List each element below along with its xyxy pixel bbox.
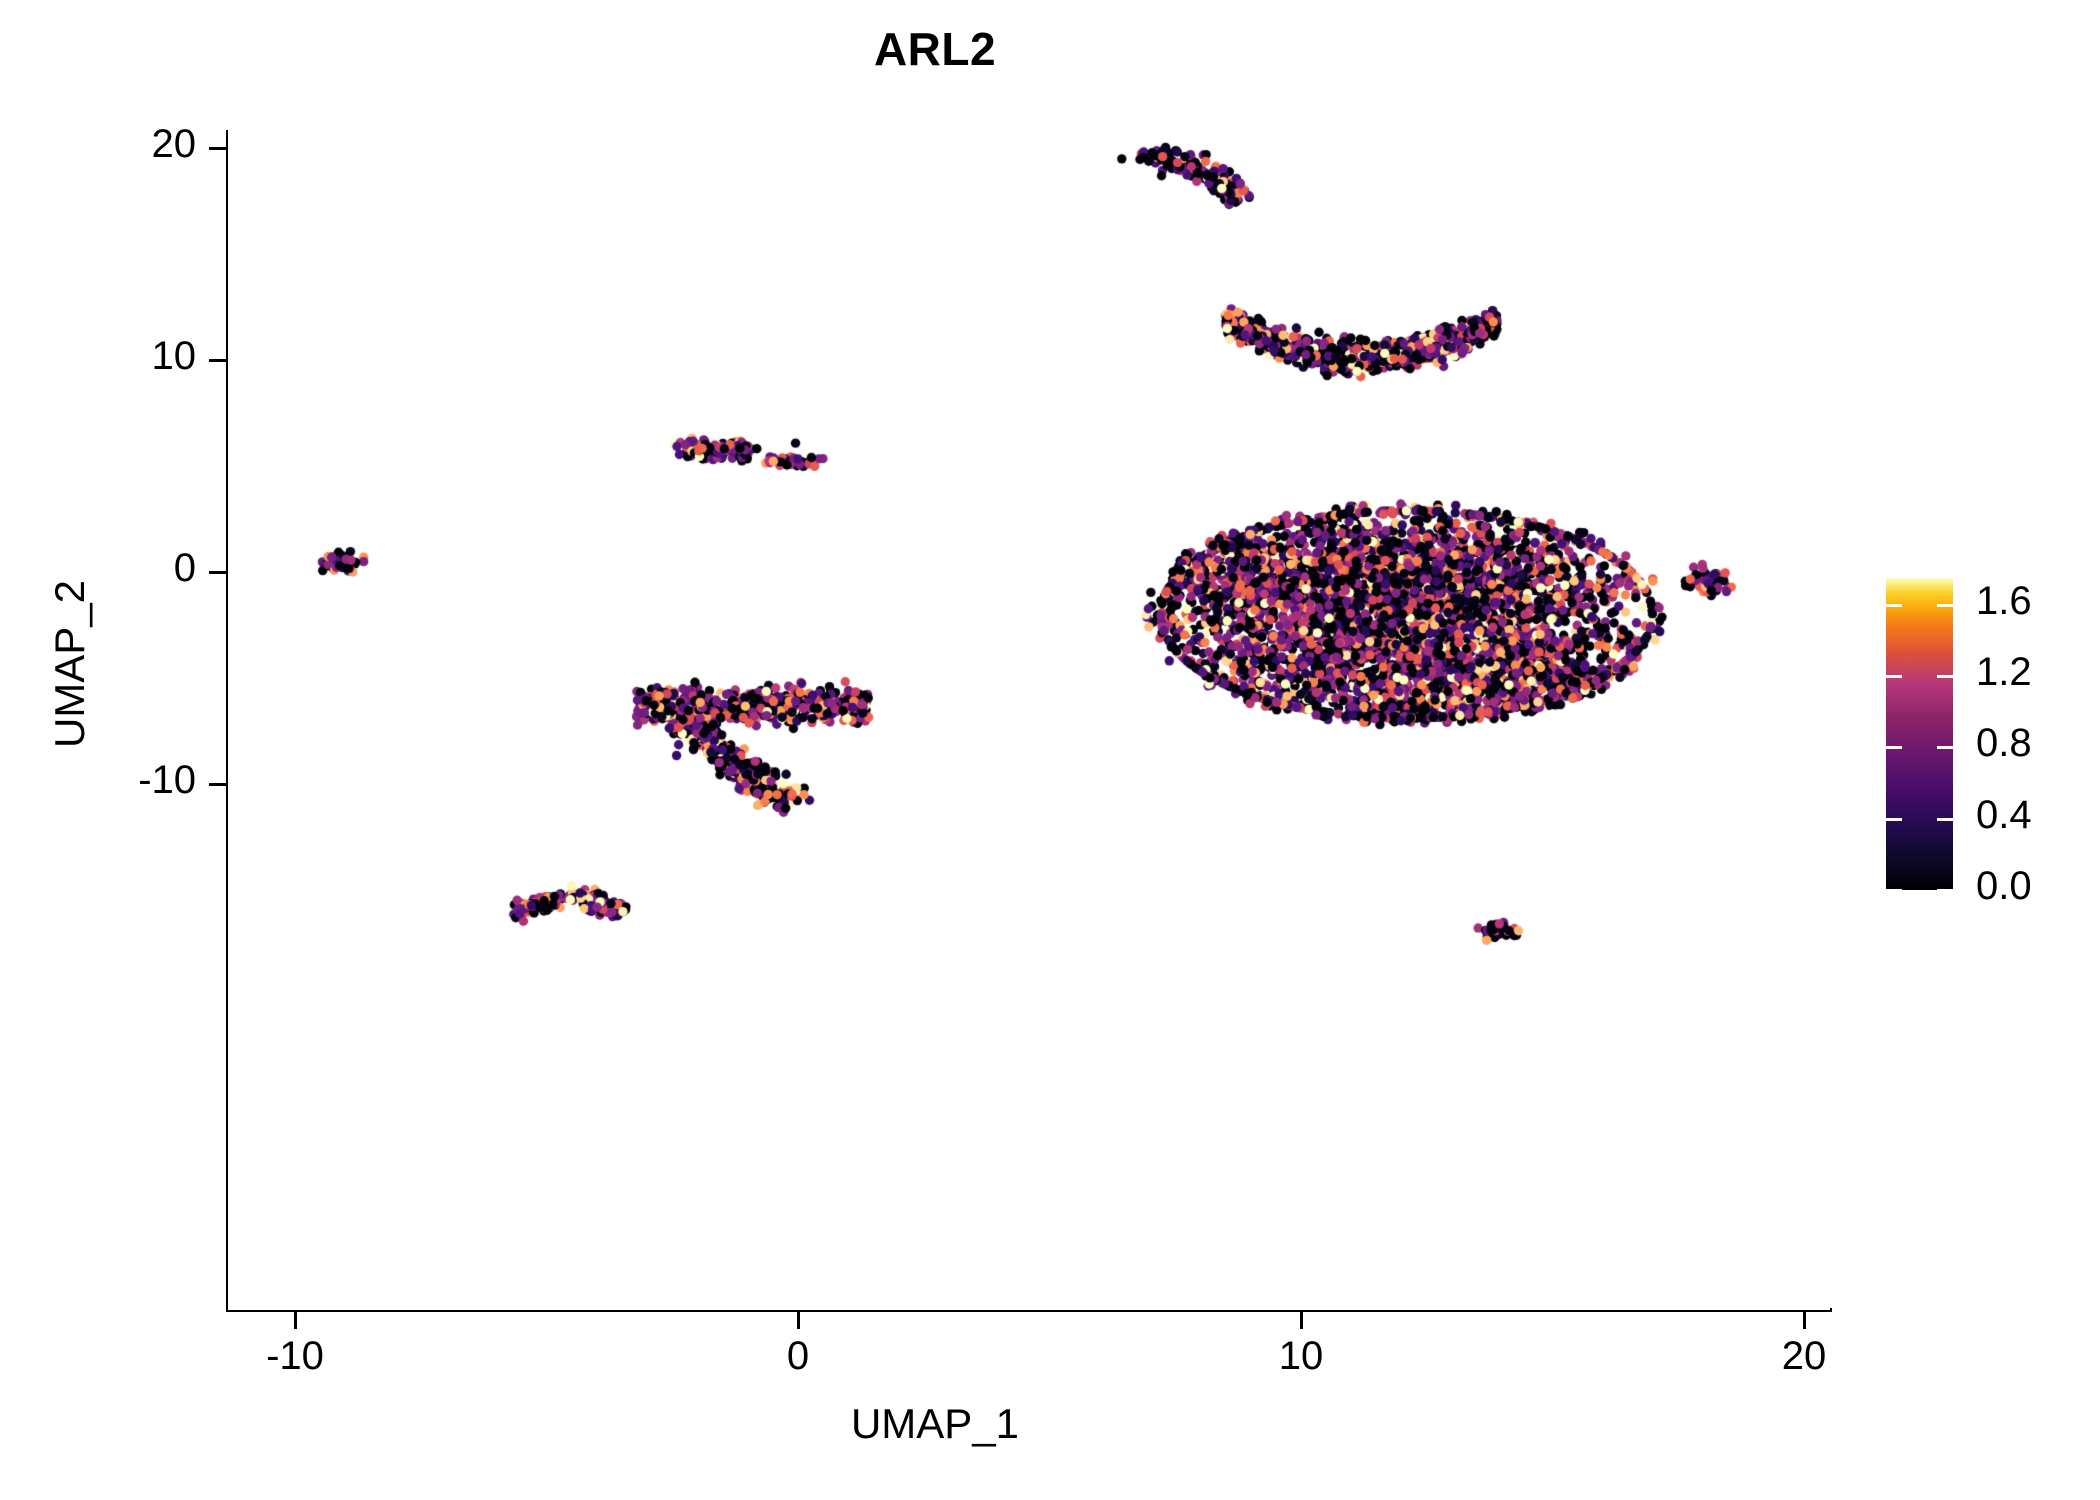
colorbar-tick-label: 1.2 [1976, 650, 2032, 695]
y-tick-label: -10 [0, 758, 196, 803]
colorbar-tick-mark [1886, 818, 1902, 821]
y-tick-mark [209, 783, 226, 786]
colorbar-tick-mark [1886, 746, 1902, 749]
colorbar-tick-label: 1.6 [1976, 579, 2032, 624]
y-axis-label: UMAP_2 [46, 314, 94, 1014]
colorbar-tick-mark [1937, 675, 1953, 678]
colorbar-tick-mark [1937, 889, 1953, 892]
colorbar-tick-mark [1886, 675, 1902, 678]
colorbar-tick-mark [1886, 889, 1902, 892]
x-tick-label: 10 [1201, 1334, 1401, 1379]
x-tick-mark [1803, 1312, 1806, 1329]
x-tick-label: -10 [195, 1334, 395, 1379]
y-tick-mark [209, 147, 226, 150]
x-tick-mark [1300, 1312, 1303, 1329]
x-tick-label: 0 [698, 1334, 898, 1379]
chart-root: ARL2 -1001020 -1001020 UMAP_1 UMAP_2 0.0… [0, 0, 2100, 1500]
colorbar-gradient [1886, 578, 1953, 890]
colorbar-tick-label: 0.4 [1976, 793, 2032, 838]
colorbar-tick-label: 0.0 [1976, 864, 2032, 909]
y-tick-label: 0 [0, 546, 196, 591]
y-tick-label: 20 [0, 122, 196, 167]
x-axis-label: UMAP_1 [0, 1400, 1870, 1448]
y-tick-mark [209, 571, 226, 574]
colorbar-tick-mark [1937, 604, 1953, 607]
scatter-canvas [228, 130, 1830, 1310]
y-tick-label: 10 [0, 334, 196, 379]
x-tick-label: 20 [1704, 1334, 1904, 1379]
colorbar-legend: 0.00.40.81.21.6 [1886, 578, 2076, 893]
colorbar-tick-mark [1937, 746, 1953, 749]
x-tick-mark [797, 1312, 800, 1329]
colorbar-tick-mark [1937, 818, 1953, 821]
y-tick-mark [209, 359, 226, 362]
plot-panel [228, 130, 1830, 1310]
page-title: ARL2 [0, 22, 1870, 76]
colorbar-tick-label: 0.8 [1976, 721, 2032, 766]
colorbar-tick-mark [1886, 604, 1902, 607]
x-tick-mark [294, 1312, 297, 1329]
